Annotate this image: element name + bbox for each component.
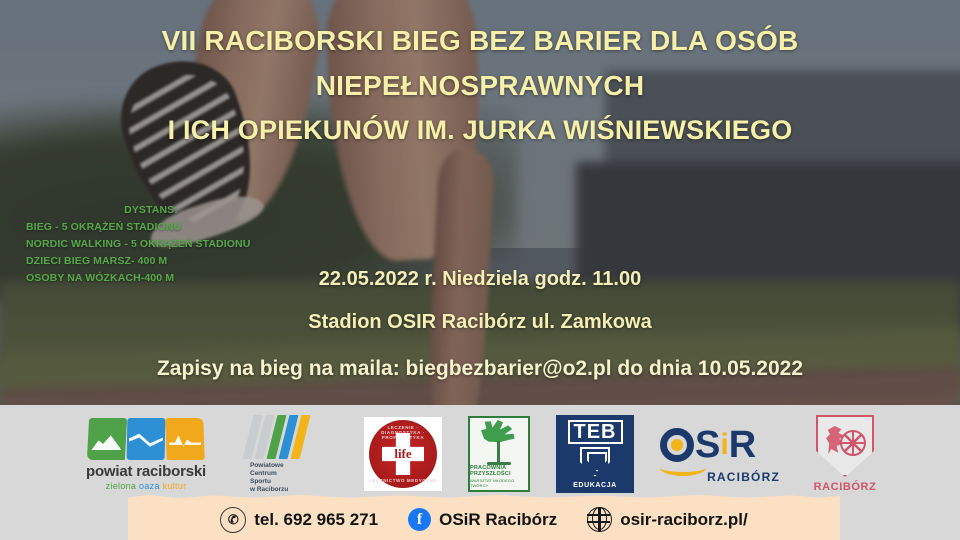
logo-life-medical[interactable]: LECZENIE · DIAGNOSTYKA · PROFILAKTYKA li… [364, 417, 442, 491]
contact-phone-text: tel. 692 965 271 [254, 510, 378, 530]
osir-o-icon [660, 428, 694, 462]
teb-shield-icon [580, 447, 610, 477]
powiat-tile-green [87, 418, 127, 460]
pcs-line-1: Powiatowe [250, 462, 338, 470]
powiat-tile-blue [127, 418, 166, 460]
pcs-text: Powiatowe Centrum Sportu w Raciborzu [242, 462, 338, 494]
life-circle-icon: LECZENIE · DIAGNOSTYKA · PROFILAKTYKA li… [369, 420, 437, 488]
contact-website[interactable]: osir-raciborz.pl/ [587, 502, 748, 532]
distances-heading: DYSTANS: [26, 202, 276, 219]
title-line-2: NIEPEŁNOSPRAWNYCH [0, 63, 960, 108]
event-signup-line: Zapisy na bieg na maila: biegbezbarier@o… [0, 344, 960, 394]
logo-teb-edukacja[interactable]: TEB EDUKACJA [556, 415, 634, 493]
powiat-tagline: zielona oaza kultur [76, 481, 216, 491]
event-date-line: 22.05.2022 r. Niedziela godz. 11.00 [0, 258, 960, 300]
distance-item: BIEG - 5 OKRĄŻEŃ STADIONU [26, 219, 276, 236]
teb-subtitle: EDUKACJA [573, 482, 617, 489]
contact-bar: ✆ tel. 692 965 271 f OSiR Racibórz osir-… [128, 494, 840, 540]
pcs-line-4: w Raciborzu [250, 486, 338, 494]
hand-leaf-icon [481, 420, 519, 450]
logo-pracownia-przyszlosci[interactable]: PRACOWNIA PRZYSZŁOŚCI WARSZTAT MŁODEGO T… [468, 416, 530, 492]
wheel-icon [840, 430, 866, 456]
pracownia-line-1: PRACOWNIA PRZYSZŁOŚCI [470, 465, 528, 477]
tree-base-icon [487, 462, 511, 465]
phone-icon: ✆ [220, 507, 246, 533]
contact-website-text: osir-raciborz.pl/ [620, 510, 748, 530]
crest-shield-icon [816, 415, 874, 477]
pcs-line-2: Centrum [250, 470, 338, 478]
page-title: VII RACIBORSKI BIEG BEZ BARIER DLA OSÓB … [0, 18, 960, 153]
logo-osir-raciborz[interactable]: S i R RACIBÓRZ [660, 425, 780, 484]
facebook-icon: f [408, 508, 431, 531]
pcs-line-3: Sportu [250, 478, 338, 486]
title-line-1: VII RACIBORSKI BIEG BEZ BARIER DLA OSÓB [0, 18, 960, 63]
powiat-name: powiat raciborski [76, 463, 216, 480]
powiat-tagline-3: kultur [163, 481, 187, 491]
title-line-3: I ICH OPIEKUNÓW IM. JURKA WIŚNIEWSKIEGO [0, 108, 960, 153]
logo-raciborz-crest[interactable]: RACIBÓRZ [806, 415, 884, 493]
life-word: life [394, 446, 411, 462]
powiat-tagline-1: zielona [106, 481, 137, 491]
distance-item: NORDIC WALKING - 5 OKRĄŻEŃ STADIONU [26, 236, 276, 253]
osir-letter-s: S [695, 425, 719, 465]
life-bottom-arc-text: LECZNICTWO MEDYCZNE [369, 478, 437, 483]
pracownia-line-2: WARSZTAT MŁODEGO TWÓRCY [470, 478, 528, 488]
teb-word: TEB [568, 420, 623, 444]
contact-facebook[interactable]: f OSiR Racibórz [408, 503, 557, 531]
crest-name: RACIBÓRZ [806, 481, 884, 493]
powiat-tiles-icon [76, 418, 216, 460]
powiat-tagline-2: oaza [139, 481, 160, 491]
event-poster: VII RACIBORSKI BIEG BEZ BARIER DLA OSÓB … [0, 0, 960, 540]
event-venue-line: Stadion OSIR Racibórz ul. Zamkowa [0, 300, 960, 344]
sponsor-logo-row: powiat raciborski zielona oaza kultur Po… [0, 410, 960, 498]
contact-facebook-text: OSiR Racibórz [439, 510, 557, 530]
pcs-bars-icon [242, 415, 338, 459]
globe-icon [587, 507, 612, 532]
osir-yellow-dot-icon [671, 439, 683, 451]
event-info-block: 22.05.2022 r. Niedziela godz. 11.00 Stad… [0, 258, 960, 394]
osir-letter-r: R [729, 425, 755, 465]
logo-powiat-raciborski[interactable]: powiat raciborski zielona oaza kultur [76, 418, 216, 491]
osir-subtitle: RACIBÓRZ [660, 470, 780, 484]
contact-phone[interactable]: ✆ tel. 692 965 271 [220, 502, 378, 533]
osir-wordmark: S i R [660, 425, 780, 465]
tree-hand-icon [473, 418, 525, 465]
tree-trunk-icon [497, 441, 500, 463]
logo-powiatowe-centrum-sportu[interactable]: Powiatowe Centrum Sportu w Raciborzu [242, 415, 338, 494]
powiat-tile-orange [165, 418, 204, 460]
osir-letter-i: i [720, 425, 727, 465]
